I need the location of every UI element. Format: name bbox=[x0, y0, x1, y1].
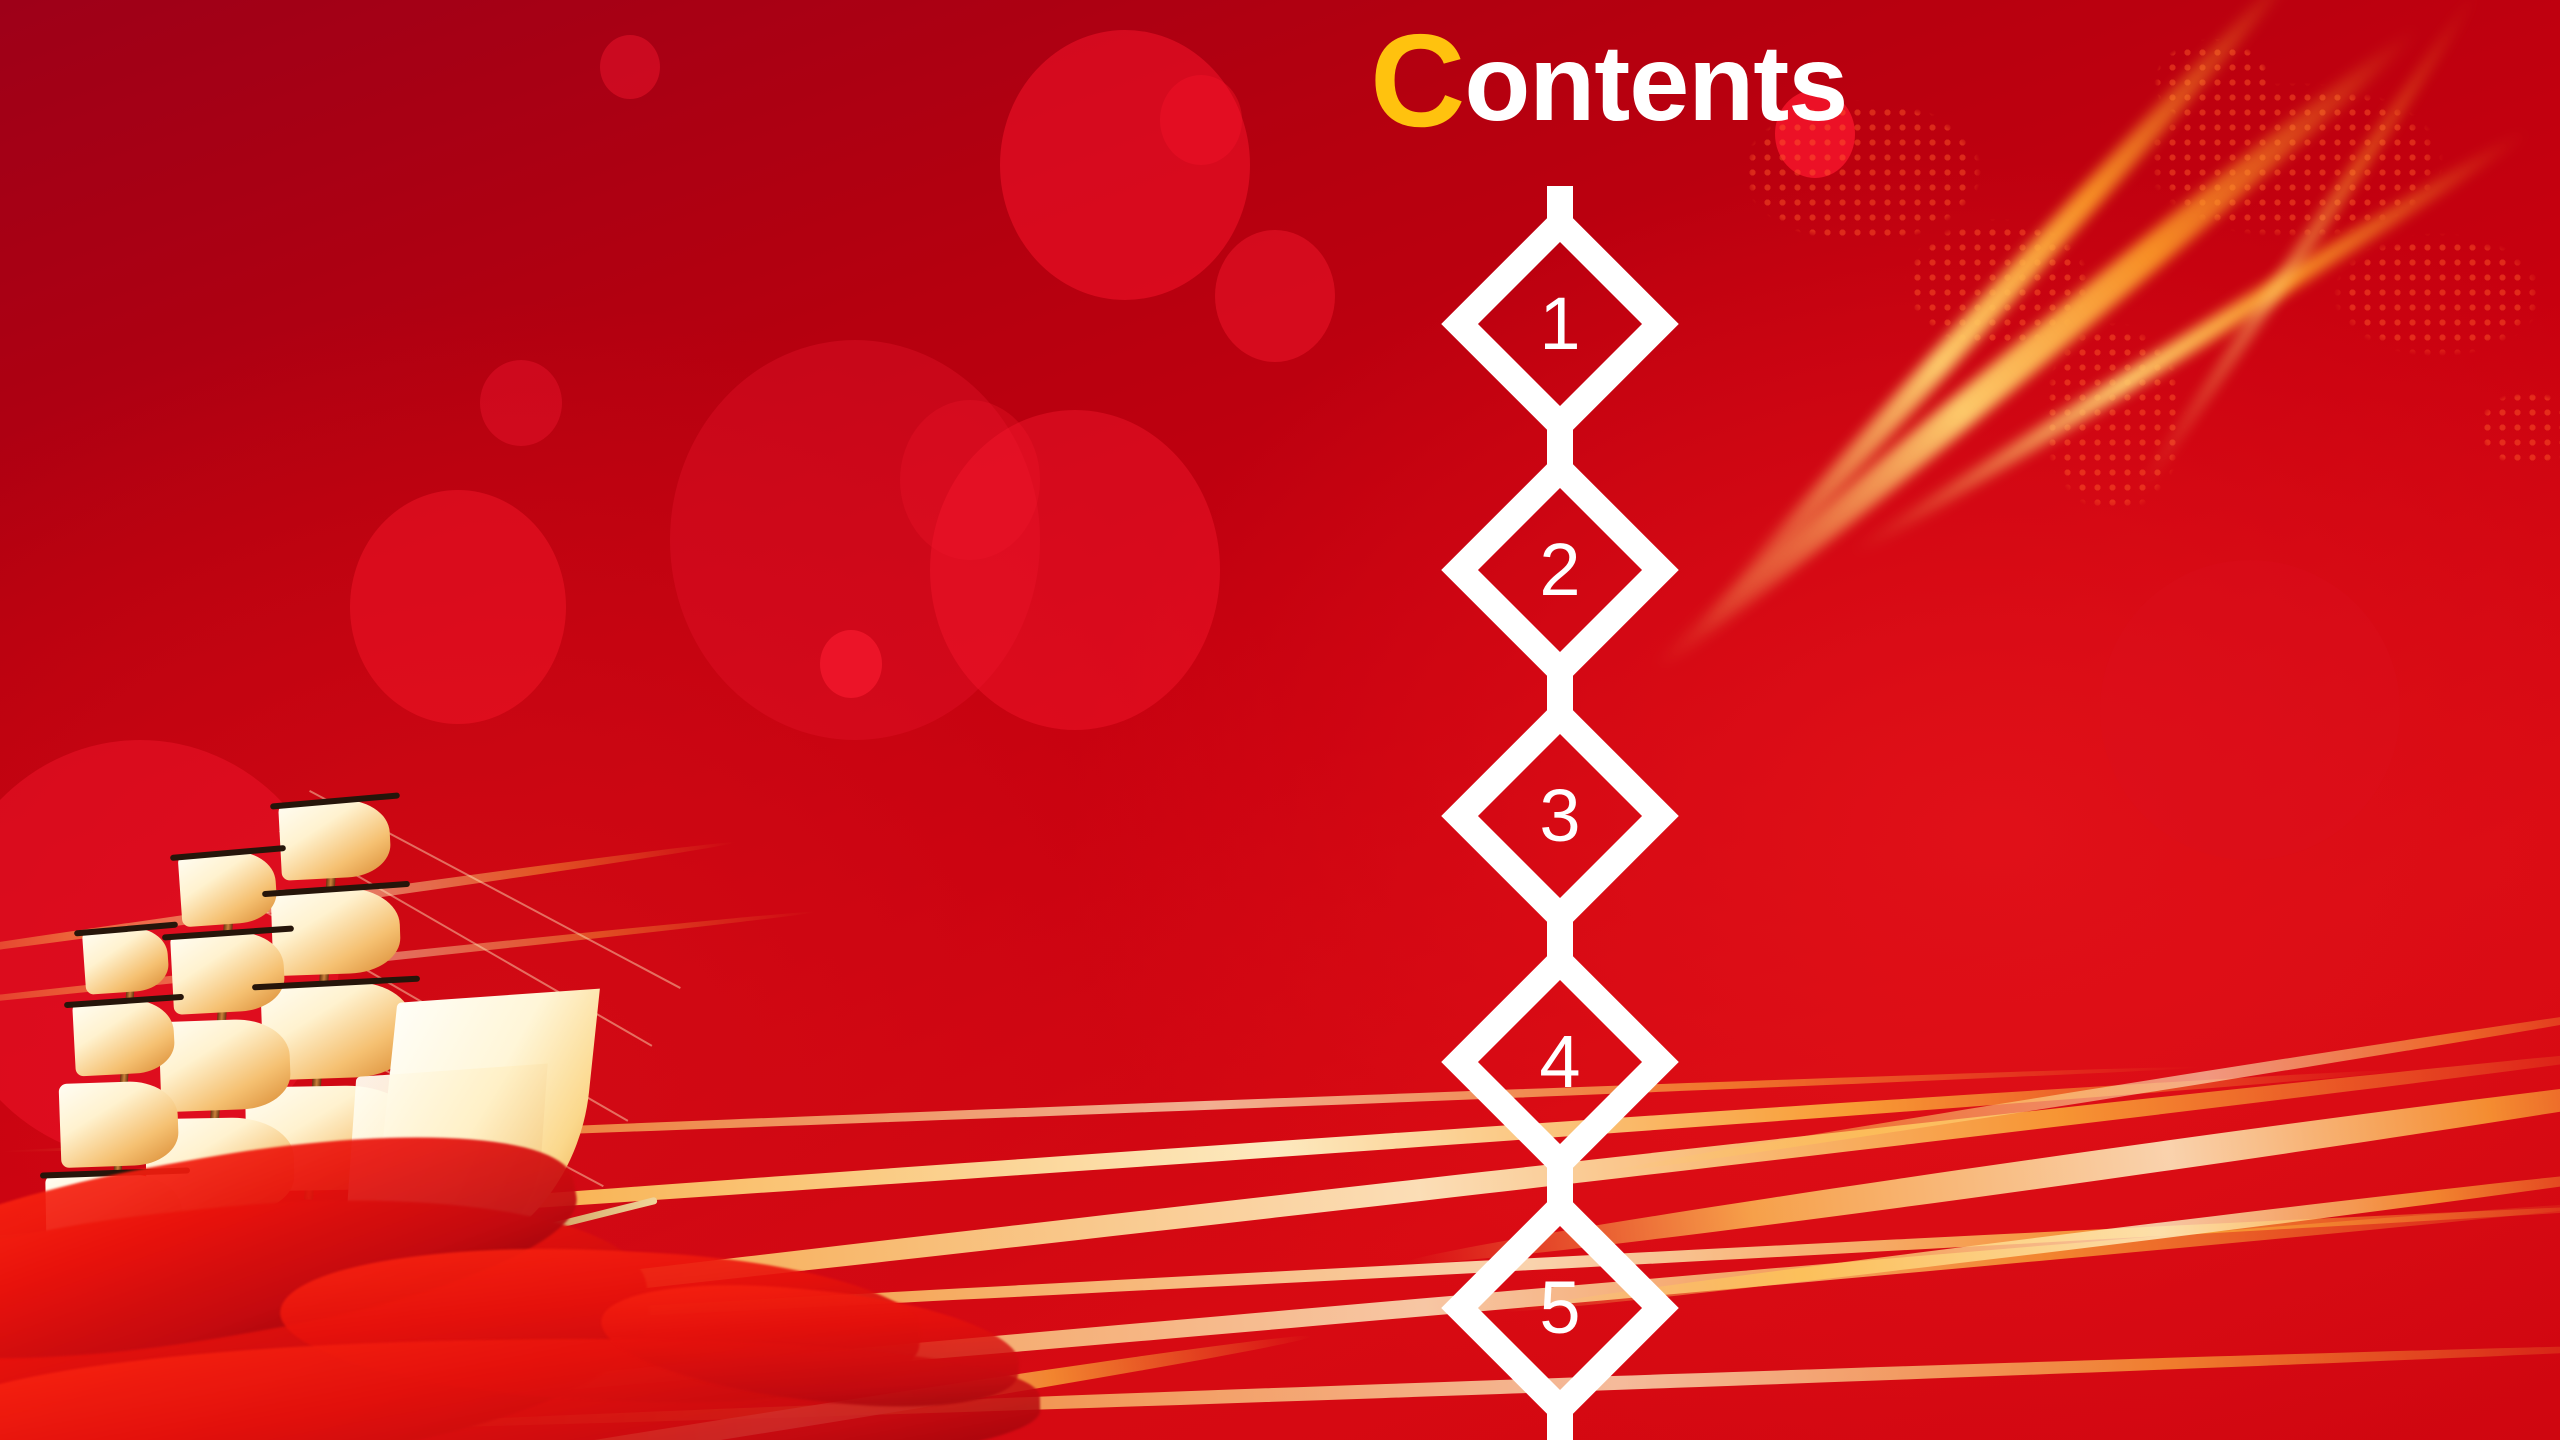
silk-ribbon bbox=[595, 1268, 1024, 1421]
rigging-line bbox=[309, 790, 681, 989]
diamond-number-5: 5 bbox=[1502, 1250, 1618, 1366]
ship-mast bbox=[304, 800, 341, 1200]
contents-item-2[interactable]: 2 工作完成情况 Work completion bbox=[1440, 486, 1680, 654]
ship-sail bbox=[72, 997, 176, 1076]
ship-mast bbox=[110, 930, 139, 1230]
diamond-marker-3[interactable]: 3 bbox=[1441, 697, 1679, 935]
bokeh-circle bbox=[1000, 30, 1250, 300]
light-ray bbox=[2127, 0, 2485, 505]
bokeh-circle bbox=[2100, 560, 2400, 860]
ship-sail bbox=[271, 886, 402, 976]
presentation-slide: Contents 1 年度工作概述 Annual work summary 2 … bbox=[0, 0, 2560, 1440]
background-decoration bbox=[0, 0, 2560, 1440]
sailing-ship-illustration bbox=[0, 770, 680, 1330]
contents-item-4[interactable]: 4 工作存在不足 Work shortcomings bbox=[1440, 978, 1680, 1146]
ship-yard bbox=[40, 1167, 190, 1178]
ship-sail bbox=[170, 929, 286, 1015]
ship-yard bbox=[262, 881, 410, 897]
ship-yard bbox=[252, 976, 420, 991]
bokeh-circle bbox=[820, 630, 882, 698]
diamond-marker-2[interactable]: 2 bbox=[1441, 451, 1679, 689]
ship-sail bbox=[245, 1085, 419, 1192]
diamond-marker-partial bbox=[1441, 1435, 1679, 1440]
silk-ribbon bbox=[0, 1164, 661, 1440]
ship-jib-sail bbox=[370, 989, 600, 1262]
bokeh-circle bbox=[350, 490, 566, 724]
ship-yard bbox=[74, 921, 178, 936]
light-streak bbox=[0, 1037, 2560, 1376]
light-streak bbox=[0, 1063, 2398, 1253]
ship-yard bbox=[162, 925, 294, 940]
diamond-number-4: 4 bbox=[1502, 1004, 1618, 1120]
rigging-line bbox=[279, 830, 652, 1047]
ship-sail bbox=[145, 1117, 295, 1216]
ship-sail bbox=[278, 797, 392, 881]
ship-sail bbox=[45, 1173, 183, 1263]
silk-ribbon bbox=[0, 1095, 590, 1404]
bokeh-circle bbox=[930, 410, 1220, 730]
bokeh-circle bbox=[600, 35, 660, 99]
light-streak bbox=[0, 1192, 2560, 1440]
ship-yard bbox=[170, 845, 286, 861]
light-streak bbox=[0, 908, 818, 1020]
bokeh-circle bbox=[1215, 230, 1335, 362]
light-streak bbox=[101, 1197, 2560, 1345]
ship-mast bbox=[204, 860, 237, 1210]
light-streak bbox=[0, 837, 736, 972]
light-streak bbox=[1, 1063, 2200, 1156]
light-streak bbox=[300, 1338, 2560, 1436]
ship-jib-sail bbox=[342, 1064, 547, 1277]
light-ray bbox=[1846, 122, 2535, 563]
diamond-number-1: 1 bbox=[1502, 266, 1618, 382]
light-streak bbox=[1606, 994, 2560, 1178]
diamond-marker-4[interactable]: 4 bbox=[1441, 943, 1679, 1181]
rigging-line bbox=[179, 960, 604, 1187]
contents-item-3[interactable]: 3 成功项目展示 Successful projects show bbox=[1440, 732, 1680, 900]
diamond-number-2: 2 bbox=[1502, 512, 1618, 628]
diamond-marker-1[interactable]: 1 bbox=[1441, 205, 1679, 443]
bokeh-circle bbox=[1160, 75, 1242, 165]
ship-sail bbox=[260, 979, 413, 1080]
bokeh-circle bbox=[900, 400, 1040, 560]
contents-diamond-chain: 1 年度工作概述 Annual work summary 2 工作完成情况 Wo… bbox=[1440, 186, 1680, 1440]
ship-sail bbox=[178, 849, 279, 928]
ship-sail bbox=[158, 1018, 291, 1112]
silk-ribbon bbox=[277, 1233, 924, 1416]
bokeh-circle bbox=[670, 340, 1040, 740]
ship-sail bbox=[82, 925, 170, 995]
light-streak bbox=[126, 1326, 1314, 1440]
silk-ribbon bbox=[0, 1330, 1041, 1440]
ship-sail bbox=[59, 1080, 180, 1168]
bokeh-circle bbox=[0, 740, 340, 1160]
rigging-line bbox=[229, 890, 628, 1122]
ship-hull bbox=[18, 1211, 582, 1339]
diamond-number-3: 3 bbox=[1502, 758, 1618, 874]
ship-yard bbox=[270, 792, 400, 809]
page-title: Contents bbox=[1370, 12, 1847, 151]
diamond-marker-5[interactable]: 5 bbox=[1441, 1189, 1679, 1427]
ship-bowsprit bbox=[452, 1197, 657, 1255]
contents-item-1[interactable]: 1 年度工作概述 Annual work summary bbox=[1440, 240, 1680, 408]
bokeh-circle bbox=[480, 360, 562, 446]
ship-yard bbox=[64, 994, 184, 1008]
title-rest: ontents bbox=[1464, 22, 1847, 143]
title-capital-letter: C bbox=[1370, 7, 1464, 154]
contents-item-5[interactable]: 5 明年工作计划 Next year the work plan bbox=[1440, 1224, 1680, 1392]
